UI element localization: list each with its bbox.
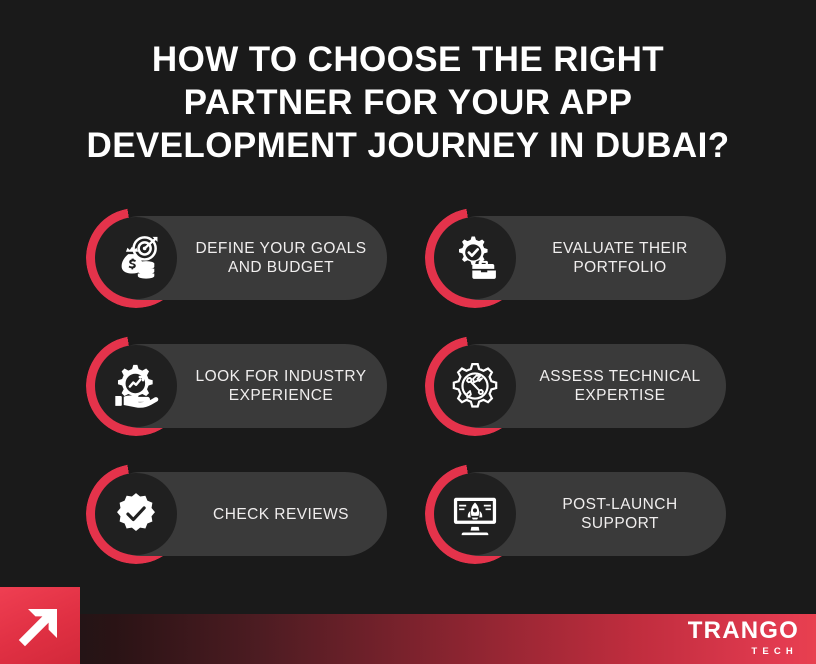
infographic-canvas: HOW TO CHOOSE THE RIGHT PARTNER FOR YOUR… [0, 0, 816, 664]
footer-bar: TRANGO TECH [0, 614, 816, 664]
badge-check-icon [113, 491, 159, 537]
page-title-line-1: HOW TO CHOOSE THE RIGHT [0, 38, 816, 81]
step-icon-disc [95, 345, 177, 427]
step-card[interactable]: EVALUATE THEIR PORTFOLIO [425, 207, 726, 309]
monitor-rocket-icon [452, 491, 498, 537]
step-label: LOOK FOR INDUSTRY EXPERIENCE [183, 344, 379, 428]
step-label: DEFINE YOUR GOALS AND BUDGET [183, 216, 379, 300]
step-label: CHECK REVIEWS [183, 472, 379, 556]
trango-arrow-logo-icon [15, 601, 65, 651]
step-label: ASSESS TECHNICAL EXPERTISE [522, 344, 718, 428]
brand-logo-tile [0, 587, 80, 664]
step-icon-disc [95, 217, 177, 299]
step-card[interactable]: DEFINE YOUR GOALS AND BUDGET [86, 207, 387, 309]
gear-check-briefcase-icon [452, 235, 498, 281]
brand-lockup: TRANGO TECH [688, 619, 799, 657]
page-title-line-3: DEVELOPMENT JOURNEY IN DUBAI? [0, 124, 816, 167]
brand-tagline: TECH [688, 647, 798, 657]
page-title: HOW TO CHOOSE THE RIGHT PARTNER FOR YOUR… [0, 38, 816, 167]
step-icon-disc [434, 345, 516, 427]
step-icon-disc [434, 217, 516, 299]
step-card[interactable]: LOOK FOR INDUSTRY EXPERIENCE [86, 335, 387, 437]
hand-gear-growth-icon [113, 363, 159, 409]
page-title-line-2: PARTNER FOR YOUR APP [0, 81, 816, 124]
step-icon-disc [95, 473, 177, 555]
gear-tools-icon [452, 363, 498, 409]
step-card[interactable]: POST-LAUNCH SUPPORT [425, 463, 726, 565]
step-icon-disc [434, 473, 516, 555]
money-bag-target-icon [113, 235, 159, 281]
step-card[interactable]: ASSESS TECHNICAL EXPERTISE [425, 335, 726, 437]
step-card[interactable]: CHECK REVIEWS [86, 463, 387, 565]
step-label: EVALUATE THEIR PORTFOLIO [522, 216, 718, 300]
step-label: POST-LAUNCH SUPPORT [522, 472, 718, 556]
brand-name: TRANGO [688, 619, 799, 643]
